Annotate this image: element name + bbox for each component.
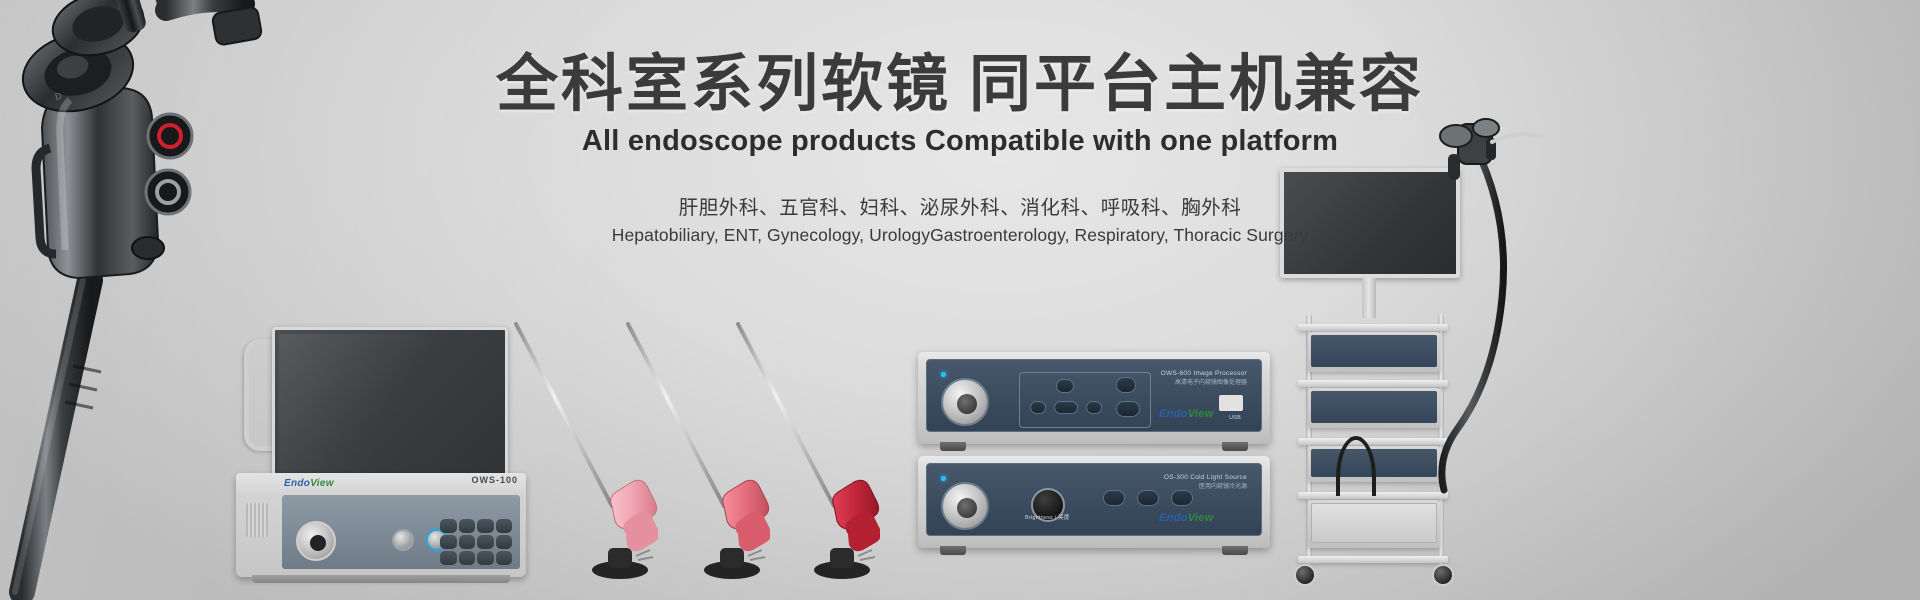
brand-endo-text: Endo bbox=[1159, 408, 1188, 420]
workstation-front-panel: EndoView OWS-100 bbox=[236, 473, 526, 577]
cart-caster-wheel bbox=[1294, 564, 1316, 586]
light-source-front-face: OS-300 Cold Light Source 医用内窥镜冷光源 Bright… bbox=[926, 463, 1262, 536]
keypad-key[interactable] bbox=[496, 551, 513, 565]
power-indicator-led bbox=[941, 476, 946, 481]
processor-front-face: OWS-600 Image Processor 高清电子内窥镜图像处理器 USB… bbox=[926, 359, 1262, 432]
headline-chinese-part2: 同平台主机兼容 bbox=[969, 50, 1424, 119]
cart-shelf bbox=[1298, 380, 1448, 387]
processor-model-label: OWS-600 Image Processor 高清电子内窥镜图像处理器 bbox=[1161, 370, 1247, 386]
cart-processor-unit bbox=[1308, 332, 1440, 372]
power-button[interactable] bbox=[1103, 490, 1125, 506]
brand-view-text: View bbox=[1188, 408, 1214, 420]
endoscope-light-cable bbox=[1336, 436, 1376, 496]
cart-base-shelf bbox=[1298, 556, 1448, 563]
usb-port-label: USB bbox=[1229, 415, 1241, 421]
processor-button-pad bbox=[1019, 372, 1151, 428]
light-source-model-cn: 医用内窥镜冷光源 bbox=[1164, 481, 1247, 490]
image-processor-unit: OWS-600 Image Processor 高清电子内窥镜图像处理器 USB… bbox=[918, 352, 1270, 444]
keypad-key[interactable] bbox=[459, 551, 476, 565]
workstation-keypad[interactable] bbox=[440, 519, 512, 565]
workstation-display-screen bbox=[272, 327, 508, 479]
light-guide-socket[interactable] bbox=[941, 482, 989, 530]
stacked-console-units: OWS-600 Image Processor 高清电子内窥镜图像处理器 USB… bbox=[918, 352, 1270, 552]
enter-button[interactable] bbox=[1116, 401, 1140, 417]
device-front-face bbox=[1311, 391, 1437, 423]
keypad-key[interactable] bbox=[459, 519, 476, 533]
light-source-model-en: OS-300 Cold Light Source bbox=[1164, 474, 1247, 481]
cold-light-source-unit: OS-300 Cold Light Source 医用内窥镜冷光源 Bright… bbox=[918, 456, 1270, 548]
cart-light-source bbox=[1308, 388, 1440, 428]
headline-chinese: 全科室系列软镜同平台主机兼容 bbox=[0, 52, 1920, 119]
brand-view-text: View bbox=[310, 478, 334, 489]
cart-shelf bbox=[1298, 438, 1448, 445]
brand-endo-text: Endo bbox=[284, 478, 310, 489]
departments-list-english: Hepatobiliary, ENT, Gynecology, UrologyG… bbox=[0, 225, 1920, 246]
processor-model-cn: 高清电子内窥镜图像处理器 bbox=[1161, 377, 1247, 386]
console-foot bbox=[1222, 546, 1248, 555]
promotional-banner: U D 全科室系列软镜同平台主机兼容 All endoscope product… bbox=[0, 0, 1920, 600]
device-front-face bbox=[1311, 503, 1437, 543]
console-foot bbox=[940, 546, 966, 555]
white-balance-button[interactable] bbox=[1054, 401, 1078, 414]
subheadline-english: All endoscope products Compatible with o… bbox=[0, 125, 1920, 158]
brightness-down-button[interactable] bbox=[1137, 490, 1159, 506]
power-indicator-led bbox=[941, 372, 946, 377]
keypad-key[interactable] bbox=[459, 535, 476, 549]
light-guide-port[interactable] bbox=[392, 529, 414, 551]
keypad-key[interactable] bbox=[440, 535, 457, 549]
brightness-knob-label: Brightness / 亮度 bbox=[1025, 513, 1070, 521]
brightness-up-button[interactable] bbox=[1171, 490, 1193, 506]
keypad-key[interactable] bbox=[440, 519, 457, 533]
light-source-model-label: OS-300 Cold Light Source 医用内窥镜冷光源 bbox=[1164, 474, 1247, 490]
workstation-base-foot bbox=[252, 575, 510, 583]
console-foot bbox=[1222, 442, 1248, 451]
banner-text-block: 全科室系列软镜同平台主机兼容 All endoscope products Co… bbox=[0, 52, 1920, 246]
keypad-key[interactable] bbox=[440, 551, 457, 565]
right-arrow-button[interactable] bbox=[1086, 401, 1102, 414]
brand-view-text: View bbox=[1188, 512, 1214, 524]
brand-endo-text: Endo bbox=[1159, 512, 1188, 524]
endoscope-connector-socket[interactable] bbox=[296, 521, 336, 561]
device-front-face bbox=[1311, 335, 1437, 367]
departments-list-chinese: 肝胆外科、五官科、妇科、泌尿外科、消化科、呼吸科、胸外科 bbox=[0, 191, 1920, 220]
left-arrow-button[interactable] bbox=[1030, 401, 1046, 414]
keypad-key[interactable] bbox=[477, 535, 494, 549]
workstation-model-label: OWS-100 bbox=[471, 475, 518, 485]
headline-chinese-part1: 全科室系列软镜 bbox=[496, 50, 951, 119]
keypad-key[interactable] bbox=[496, 535, 513, 549]
cart-monitor-stem bbox=[1362, 278, 1376, 318]
cart-caster-wheel bbox=[1432, 564, 1454, 586]
processor-brand-logo: EndoView bbox=[1159, 408, 1214, 420]
keypad-key[interactable] bbox=[477, 519, 494, 533]
medical-workstation-monitor: EndoView OWS-100 bbox=[236, 327, 526, 577]
keypad-key[interactable] bbox=[477, 551, 494, 565]
workstation-control-panel bbox=[282, 495, 520, 569]
laparoscopic-instrument-crimson bbox=[730, 320, 880, 580]
cart-accessory-tray bbox=[1308, 500, 1440, 548]
processor-main-dial[interactable] bbox=[941, 378, 989, 426]
freeze-button[interactable] bbox=[1056, 379, 1074, 393]
capture-button[interactable] bbox=[1116, 377, 1136, 393]
usb-port[interactable] bbox=[1219, 395, 1243, 411]
light-source-brand-logo: EndoView bbox=[1159, 512, 1214, 524]
workstation-vent-grille bbox=[246, 503, 268, 537]
keypad-key[interactable] bbox=[496, 519, 513, 533]
processor-model-en: OWS-600 Image Processor bbox=[1161, 370, 1247, 377]
console-foot bbox=[940, 442, 966, 451]
workstation-brand-logo: EndoView bbox=[284, 478, 334, 489]
cart-shelf bbox=[1298, 324, 1448, 331]
